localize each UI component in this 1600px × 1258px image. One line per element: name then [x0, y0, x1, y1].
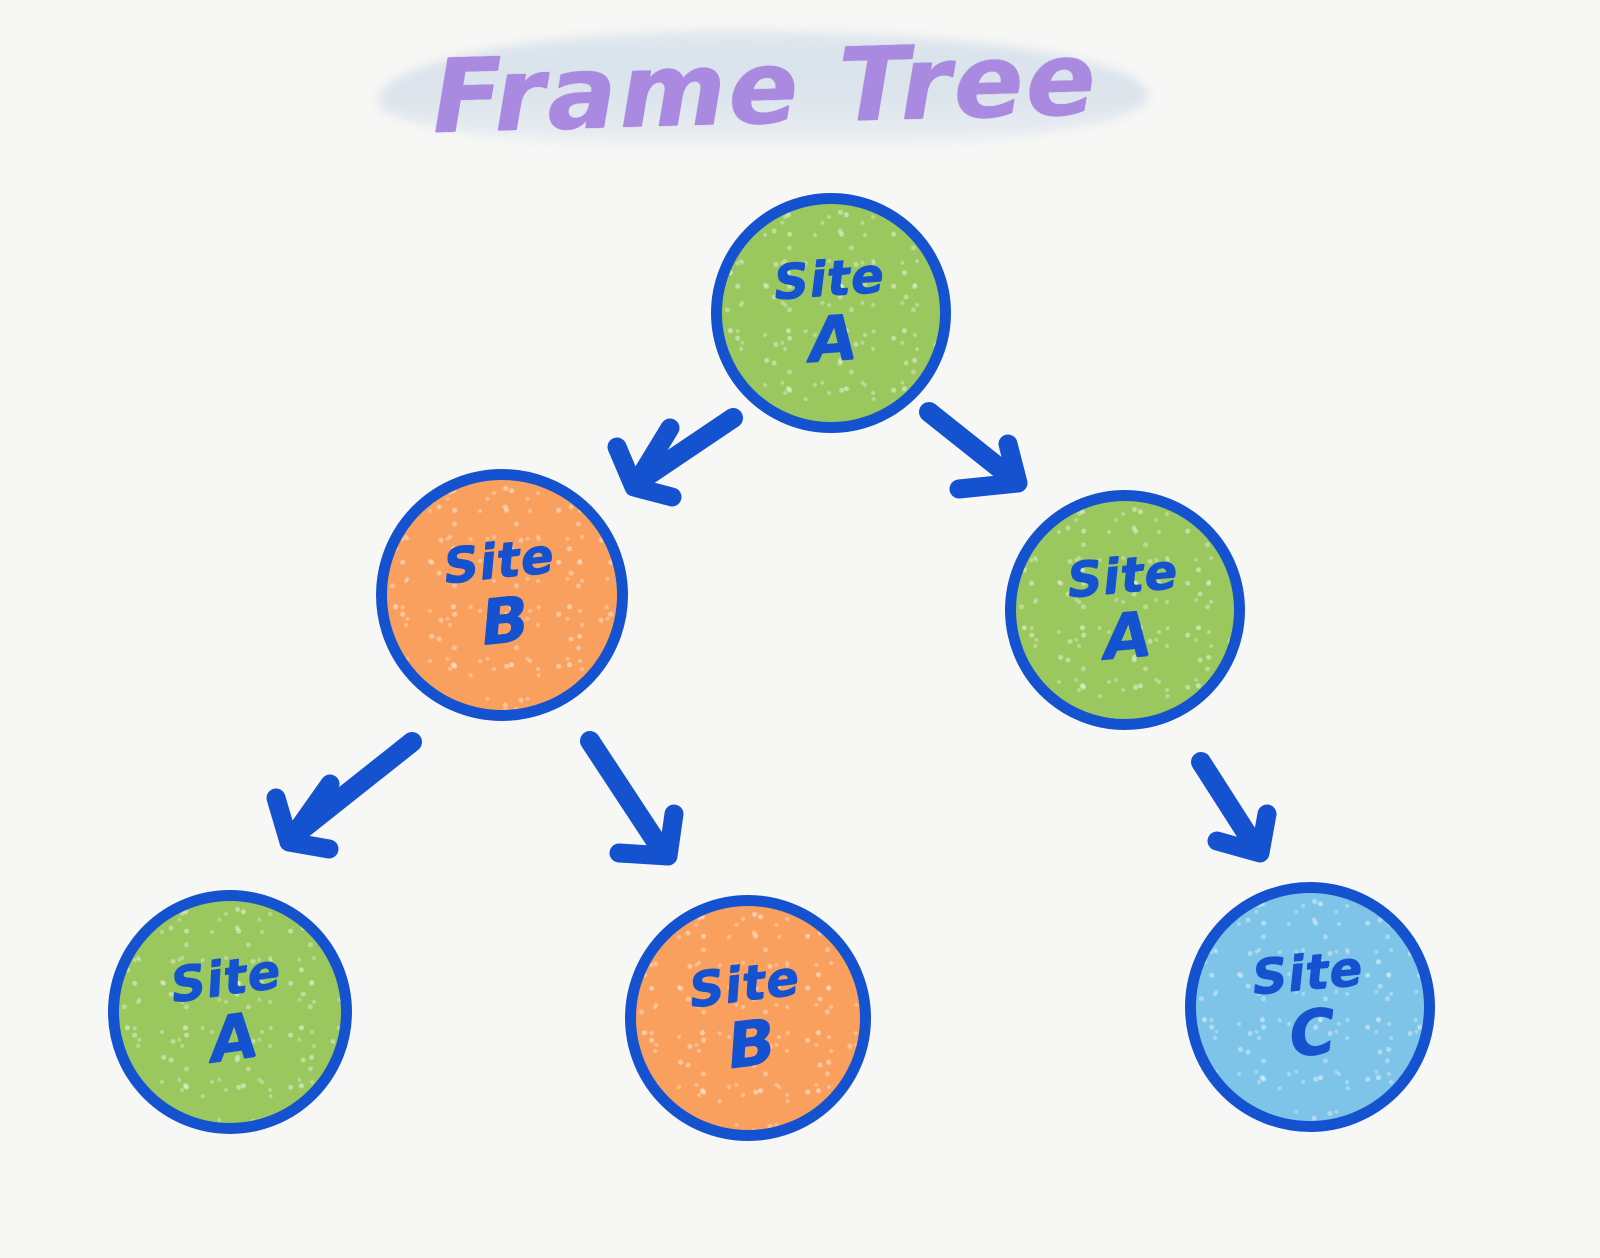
node-outline [1185, 882, 1435, 1132]
node-root-site-a[interactable]: Site A [711, 193, 951, 433]
arrow-site-a-right-to-site-c [1201, 762, 1267, 853]
node-site-b[interactable]: Site B [376, 469, 628, 721]
arrow-site-b-to-site-b-mid [590, 741, 674, 856]
node-outline [711, 193, 951, 433]
page-title-text: Frame Tree [368, 7, 1162, 169]
arrow-root-to-site-b [617, 418, 733, 497]
node-site-a-bottom-left[interactable]: Site A [108, 890, 352, 1134]
arrow-root-to-site-a-right [929, 412, 1018, 489]
node-site-c[interactable]: Site C [1185, 882, 1435, 1132]
node-outline [1005, 490, 1245, 730]
frame-tree-diagram: Frame Tree [0, 0, 1600, 1258]
node-outline [625, 895, 871, 1141]
node-site-a-right[interactable]: Site A [1005, 490, 1245, 730]
node-outline [376, 469, 628, 721]
node-outline [108, 890, 352, 1134]
arrow-site-b-to-site-a-left [276, 742, 412, 849]
node-site-b-bottom-mid[interactable]: Site B [625, 895, 871, 1141]
page-title: Frame Tree [370, 18, 1160, 158]
